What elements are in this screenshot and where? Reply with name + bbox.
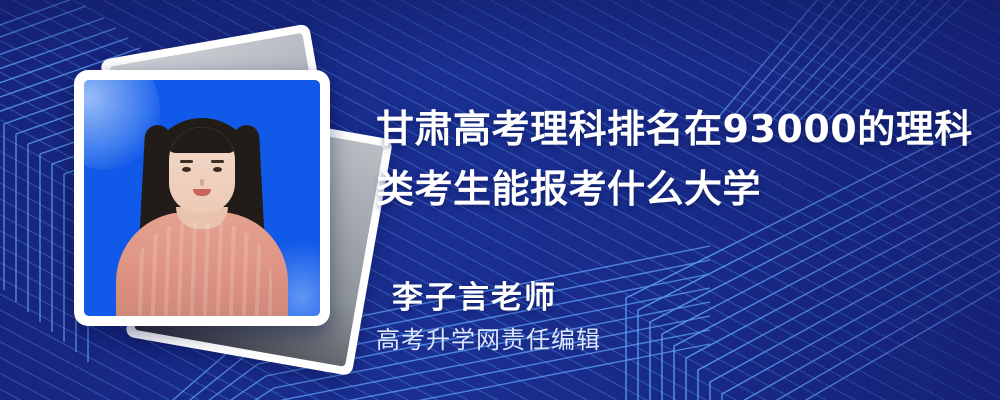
- portrait-nose: [200, 179, 204, 186]
- page-title-line-2: 类考生能报考什么大学: [376, 159, 956, 219]
- portrait-person-figure: [84, 80, 320, 316]
- portrait-fringe: [169, 127, 235, 153]
- portrait-brow-left: [180, 160, 193, 163]
- author-photo-stack: [58, 38, 358, 358]
- author-photo-card: [74, 70, 330, 326]
- portrait-mouth: [193, 189, 211, 196]
- portrait-face: [169, 127, 235, 213]
- article-header-banner: 甘肃高考理科排名在93000的理科 类考生能报考什么大学 李子言老师 高考升学网…: [0, 0, 1000, 400]
- portrait-dress: [116, 212, 288, 316]
- author-name: 李子言老师: [392, 272, 557, 317]
- portrait-brow-right: [211, 160, 224, 163]
- page-title: 甘肃高考理科排名在93000的理科 类考生能报考什么大学: [376, 99, 956, 219]
- portrait-eye-right: [213, 167, 222, 172]
- author-role: 高考升学网责任编辑: [376, 320, 601, 355]
- portrait-dress-folds: [132, 222, 272, 316]
- author-portrait: [84, 80, 320, 316]
- page-title-line-1: 甘肃高考理科排名在93000的理科: [376, 99, 956, 159]
- banner-text-column: 甘肃高考理科排名在93000的理科 类考生能报考什么大学 李子言老师 高考升学网…: [376, 0, 976, 400]
- portrait-eye-left: [182, 167, 191, 172]
